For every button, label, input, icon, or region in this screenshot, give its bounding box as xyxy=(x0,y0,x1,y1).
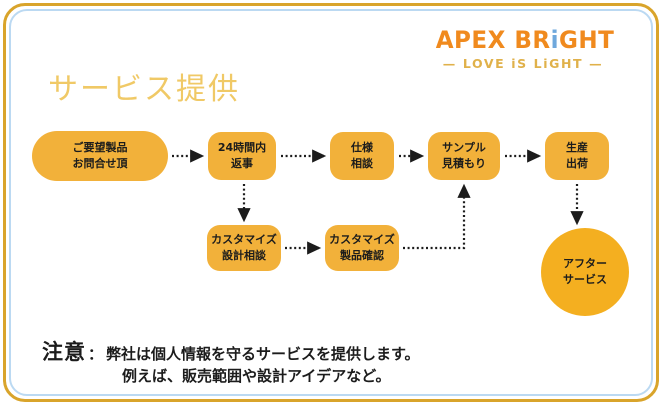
footer-note-row: 注意 ： 弊社は個人情報を守るサービスを提供します。 xyxy=(42,336,472,366)
brand-logo: APEX BRiGHT — LOVE iS LiGHT — xyxy=(432,28,614,71)
flow-node-after-service-line1: アフター xyxy=(563,256,607,272)
flow-node-sample-line2: 見積もり xyxy=(442,156,486,172)
flow-node-custom-design-line1: カスタマイズ xyxy=(211,232,277,248)
footer-note-line1: 弊社は個人情報を守るサービスを提供します。 xyxy=(106,345,420,364)
flow-node-sample[interactable]: サンプル 見積もり xyxy=(428,132,500,180)
flow-node-sample-line1: サンプル xyxy=(442,140,486,156)
flow-node-reply[interactable]: 24時間内 返事 xyxy=(208,132,276,180)
flow-node-after-service-line2: サービス xyxy=(563,272,607,288)
flow-node-custom-design-line2: 設計相談 xyxy=(222,248,266,264)
slide-canvas: APEX BRiGHT — LOVE iS LiGHT — サービス提供 xyxy=(0,0,666,409)
brand-word-part2: GHT xyxy=(559,26,614,54)
flow-node-spec-line1: 仕様 xyxy=(351,140,373,156)
flow-node-custom-confirm-line1: カスタマイズ xyxy=(329,232,395,248)
flow-node-custom-confirm[interactable]: カスタマイズ 製品確認 xyxy=(325,225,399,271)
flow-node-after-service[interactable]: アフター サービス xyxy=(541,228,629,316)
flow-node-request[interactable]: ご要望製品 お問合せ頂 xyxy=(32,131,168,181)
footer-note-label: 注意 xyxy=(42,336,86,366)
flow-node-request-line2: お問合せ頂 xyxy=(73,156,128,172)
flow-node-custom-confirm-line2: 製品確認 xyxy=(340,248,384,264)
flow-node-request-line1: ご要望製品 xyxy=(73,140,128,156)
flow-node-ship-line2: 出荷 xyxy=(566,156,588,172)
flow-node-ship[interactable]: 生産 出荷 xyxy=(545,132,609,180)
brand-word-part1: APEX BR xyxy=(436,26,551,54)
page-title: サービス提供 xyxy=(48,73,240,106)
brand-wordmark: APEX BRiGHT xyxy=(436,28,615,52)
footer-note-line2: 例えば、販売範囲や設計アイデアなど。 xyxy=(122,367,472,386)
flow-node-reply-line2: 返事 xyxy=(231,156,253,172)
brand-tagline: — LOVE iS LiGHT — xyxy=(432,58,614,71)
flow-node-ship-line1: 生産 xyxy=(566,140,588,156)
footer-note: 注意 ： 弊社は個人情報を守るサービスを提供します。 例えば、販売範囲や設計アイ… xyxy=(42,336,472,386)
flow-node-spec-line2: 相談 xyxy=(351,156,373,172)
flow-node-spec[interactable]: 仕様 相談 xyxy=(330,132,394,180)
footer-note-colon: ： xyxy=(86,343,106,364)
flow-node-reply-line1: 24時間内 xyxy=(218,140,266,156)
flow-node-custom-design[interactable]: カスタマイズ 設計相談 xyxy=(207,225,281,271)
